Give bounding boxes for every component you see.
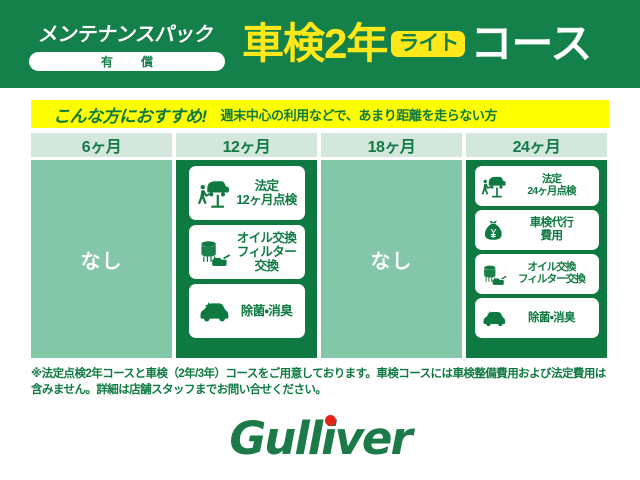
service-card-label: 法定24ヶ月点検 [509, 174, 595, 198]
none-label: なし [81, 245, 123, 274]
column-header-label: 6ヶ月 [82, 133, 121, 157]
car-sanitize-icon [194, 291, 234, 331]
service-card: 車検代行費用 [475, 210, 599, 250]
service-card-label: 法定12ヶ月点検 [234, 179, 300, 207]
table-column-18ヶ月: 18ヶ月なし [321, 133, 462, 358]
column-header-label: 12ヶ月 [223, 133, 271, 157]
paid-pill: 有 償 [29, 52, 225, 71]
column-header-18ヶ月: 18ヶ月 [321, 133, 462, 157]
car-sanitize-icon [479, 303, 509, 333]
service-coverage-table: 6ヶ月なし12ヶ月 法定12ヶ月点検 [31, 133, 609, 358]
oil-filter-change-icon [194, 232, 234, 272]
car-lift-inspection-icon [480, 172, 508, 200]
service-card-label: オイル交換フィルター交換 [234, 231, 300, 273]
table-column-6ヶ月: 6ヶ月なし [31, 133, 172, 358]
logo-red-dot-icon [325, 415, 336, 426]
oil-filter-change-icon [479, 259, 509, 289]
table-column-24ヶ月: 24ヶ月 法定24ヶ月点検 [466, 133, 607, 358]
service-card-label: 除菌・消臭 [509, 312, 595, 325]
car-lift-inspection-icon [194, 173, 234, 213]
shaken-2year-label: 車検2年 [242, 23, 387, 65]
column-body-6ヶ月: なし [31, 160, 172, 358]
paid-label: 有 償 [93, 53, 161, 70]
oil-filter-change-icon [196, 234, 232, 270]
maintenance-pack-title: メンテナンスパック [37, 18, 216, 47]
column-header-12ヶ月: 12ヶ月 [176, 133, 317, 157]
service-card: オイル交換フィルター交換 [189, 225, 305, 279]
column-header-label: 24ヶ月 [513, 133, 561, 157]
gulliver-logo-text: Gulliver [229, 412, 410, 465]
maintenance-pack-block: メンテナンスパック 有 償 [16, 18, 238, 71]
brand-logo-area: Gulliver [0, 412, 640, 464]
recommendation-description: 週末中心の利用などで、あまり距離を走らない方 [221, 105, 497, 124]
column-header-6ヶ月: 6ヶ月 [31, 133, 172, 157]
money-bag-yen-icon [480, 216, 508, 244]
disclaimer-text: ※法定点検2年コースと車検（2年/3年）コースをご用意しております。車検コースに… [31, 366, 615, 399]
service-card: 法定24ヶ月点検 [475, 166, 599, 206]
service-card: 除菌・消臭 [189, 284, 305, 338]
money-bag-yen-icon [479, 215, 509, 245]
car-sanitize-icon [196, 293, 232, 329]
column-header-24ヶ月: 24ヶ月 [466, 133, 607, 157]
service-card: 除菌・消臭 [475, 298, 599, 338]
column-body-12ヶ月: 法定12ヶ月点検 オイル交換フィルター交換 除 [176, 160, 317, 358]
header-banner: メンテナンスパック 有 償 車検2年 ライト コース [0, 0, 640, 88]
course-title-block: 車検2年 ライト コース [242, 23, 640, 65]
service-card-label: オイル交換フィルター交換 [509, 262, 595, 286]
course-label: コース [470, 23, 591, 65]
gulliver-logo: Gulliver [229, 416, 410, 461]
service-card: 法定12ヶ月点検 [189, 166, 305, 220]
recommendation-banner: こんな方におすすめ! 週末中心の利用などで、あまり距離を走らない方 [31, 100, 609, 128]
recommendation-heading: こんな方におすすめ! [53, 102, 207, 127]
oil-filter-change-icon [480, 260, 508, 288]
table-column-12ヶ月: 12ヶ月 法定12ヶ月点検 [176, 133, 317, 358]
service-card-label: 除菌・消臭 [234, 304, 300, 318]
car-lift-inspection-icon [196, 175, 232, 211]
service-card-label: 車検代行費用 [509, 217, 595, 243]
column-header-label: 18ヶ月 [368, 133, 416, 157]
car-sanitize-icon [480, 304, 508, 332]
lite-badge: ライト [391, 31, 465, 57]
none-label: なし [371, 245, 413, 274]
column-body-24ヶ月: 法定24ヶ月点検 車検代行費用 [466, 160, 607, 358]
car-lift-inspection-icon [479, 171, 509, 201]
service-card: オイル交換フィルター交換 [475, 254, 599, 294]
column-body-18ヶ月: なし [321, 160, 462, 358]
